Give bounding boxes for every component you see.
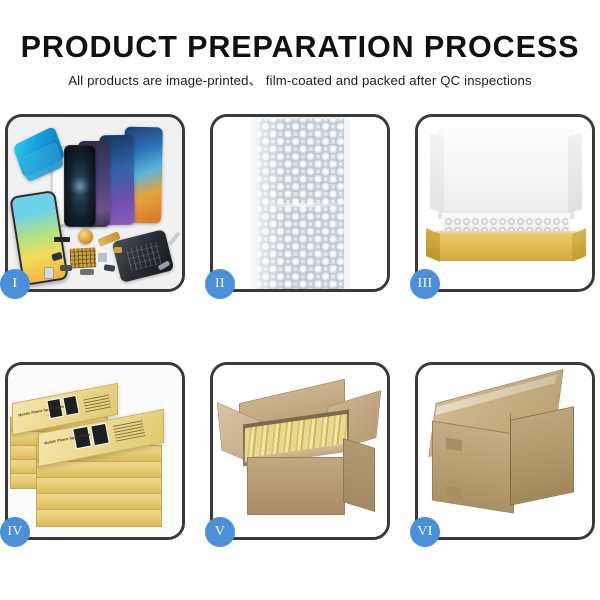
- carton-side-panel: [343, 438, 375, 512]
- stacked-box-right-5: [36, 509, 162, 527]
- process-step-2: II: [210, 114, 390, 292]
- phone-back-housing: [112, 229, 175, 283]
- product-preparation-process-page: PRODUCT PREPARATION PROCESS All products…: [0, 0, 600, 600]
- sealed-carton-seam: [510, 413, 511, 499]
- process-step-3: III: [415, 114, 595, 292]
- inner-box-lid: [438, 129, 574, 219]
- small-part-6: [80, 269, 94, 275]
- process-step-1: I: [5, 114, 185, 292]
- small-part-2: [60, 265, 72, 271]
- page-subtitle: All products are image-printed、 film-coa…: [0, 63, 600, 89]
- phone-front-dark: [64, 145, 96, 227]
- connector-bar-part: [54, 237, 70, 242]
- step-badge-6: VI: [410, 517, 440, 547]
- sealed-carton-side: [510, 406, 574, 506]
- step-badge-2: II: [205, 269, 235, 299]
- small-part-9: [167, 231, 180, 246]
- page-header: PRODUCT PREPARATION PROCESS All products…: [0, 0, 600, 89]
- inner-box-front-panel: [436, 235, 576, 261]
- sealed-carton-tab-bottom: [446, 486, 462, 500]
- step-badge-5: V: [205, 517, 235, 547]
- ic-chip-grid-part: [69, 247, 96, 268]
- small-part-5: [44, 267, 54, 279]
- step-1-image: [8, 117, 182, 289]
- small-part-7: [114, 247, 122, 253]
- sealed-carton-tab-top: [446, 438, 462, 452]
- step-2-image: [213, 117, 387, 289]
- small-part-3: [98, 253, 107, 262]
- process-steps-grid: I II III: [5, 114, 595, 540]
- small-part-4: [104, 264, 116, 271]
- process-step-6: VI: [415, 362, 595, 540]
- step-5-image: [213, 365, 387, 537]
- step-badge-1: I: [0, 269, 30, 299]
- step-4-image: Mobile Phone Spare Parts Mobile Phone Sp…: [8, 365, 182, 537]
- step-badge-4: IV: [0, 517, 30, 547]
- step-badge-3: III: [410, 269, 440, 299]
- speaker-coil-part: [78, 229, 93, 244]
- page-title: PRODUCT PREPARATION PROCESS: [0, 0, 600, 63]
- yellow-box-stack: Mobile Phone Spare Parts Mobile Phone Sp…: [8, 365, 182, 537]
- step-6-image: [418, 365, 592, 537]
- bubble-wrap-sheet: [251, 117, 351, 289]
- bubble-wrap-seam: [261, 203, 341, 207]
- process-step-5: V: [210, 362, 390, 540]
- step-3-image: [418, 117, 592, 289]
- carton-front-panel: [247, 457, 345, 515]
- sealed-carton-front: [432, 421, 514, 514]
- process-step-4: Mobile Phone Spare Parts Mobile Phone Sp…: [5, 362, 185, 540]
